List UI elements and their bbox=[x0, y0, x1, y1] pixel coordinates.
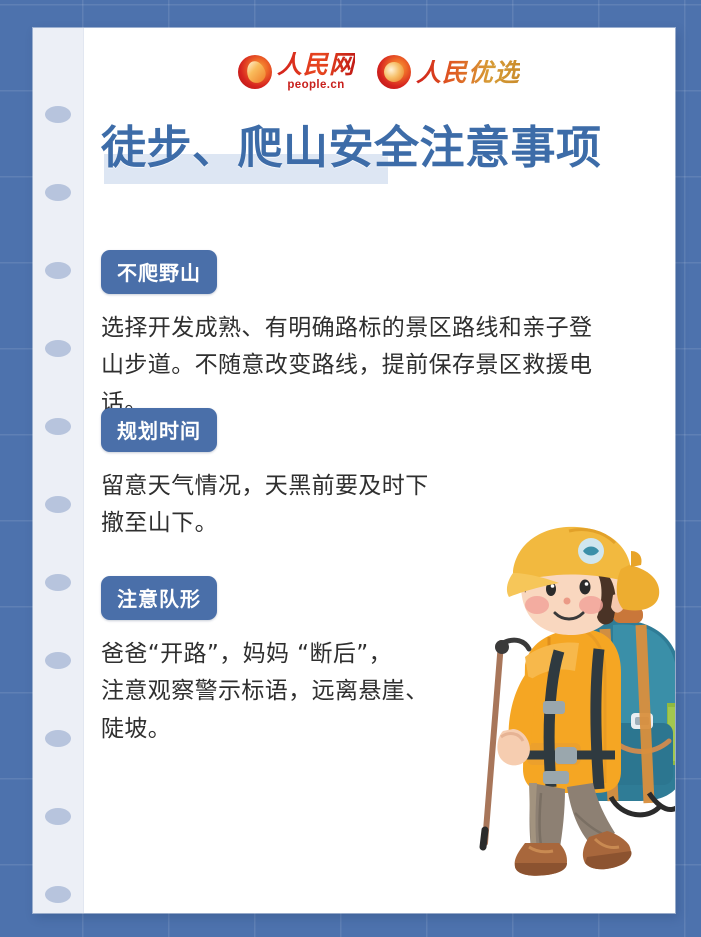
punch-hole bbox=[45, 496, 71, 513]
page-title-wrap: 徒步、爬山安全注意事项 bbox=[101, 120, 667, 186]
renmin-youxuan-logo-cn-text: 人民优选 bbox=[416, 60, 520, 85]
people-cn-logo-words: 人民网 people.cn bbox=[277, 52, 355, 92]
paper-card: 人民网 people.cn 人民优选 徒步、爬山安全注意事项 不爬野山 选择开发… bbox=[33, 28, 675, 913]
punch-hole bbox=[45, 730, 71, 747]
section-plan-time: 规划时间 留意天气情况，天黑前要及时下 撤至山下。 bbox=[101, 408, 665, 543]
renmin-youxuan-logo-icon bbox=[377, 55, 411, 89]
section-no-wild-mountain: 不爬野山 选择开发成熟、有明确路标的景区路线和亲子登山步道。不随意改变路线，提前… bbox=[101, 250, 665, 422]
punch-hole bbox=[45, 184, 71, 201]
punch-hole bbox=[45, 808, 71, 825]
section-badge-2[interactable]: 规划时间 bbox=[101, 408, 217, 452]
punch-hole bbox=[45, 418, 71, 435]
punch-hole bbox=[45, 106, 71, 123]
people-cn-logo-icon bbox=[238, 55, 272, 89]
logo-row: 人民网 people.cn 人民优选 bbox=[83, 44, 675, 100]
people-cn-logo-latin-text: people.cn bbox=[277, 80, 355, 92]
hiking-boy-illustration bbox=[463, 525, 675, 885]
paper-margin-strip bbox=[33, 28, 84, 913]
section-badge-1[interactable]: 不爬野山 bbox=[101, 250, 217, 294]
jacket bbox=[523, 629, 621, 793]
renmin-youxuan-logo-words: 人民优选 bbox=[416, 60, 520, 85]
paper-content: 人民网 people.cn 人民优选 徒步、爬山安全注意事项 不爬野山 选择开发… bbox=[83, 28, 675, 913]
people-cn-logo-cn-text: 人民网 bbox=[277, 52, 355, 77]
punch-hole bbox=[45, 652, 71, 669]
page-title: 徒步、爬山安全注意事项 bbox=[101, 120, 667, 176]
punch-hole bbox=[45, 262, 71, 279]
section-body-1: 选择开发成熟、有明确路标的景区路线和亲子登山步道。不随意改变路线，提前保存景区救… bbox=[101, 310, 613, 422]
punch-hole bbox=[45, 340, 71, 357]
punch-hole bbox=[45, 886, 71, 903]
logo-renmin-youxuan[interactable]: 人民优选 bbox=[377, 55, 520, 89]
punch-hole bbox=[45, 574, 71, 591]
logo-people-cn[interactable]: 人民网 people.cn bbox=[238, 52, 355, 92]
section-badge-3[interactable]: 注意队形 bbox=[101, 576, 217, 620]
